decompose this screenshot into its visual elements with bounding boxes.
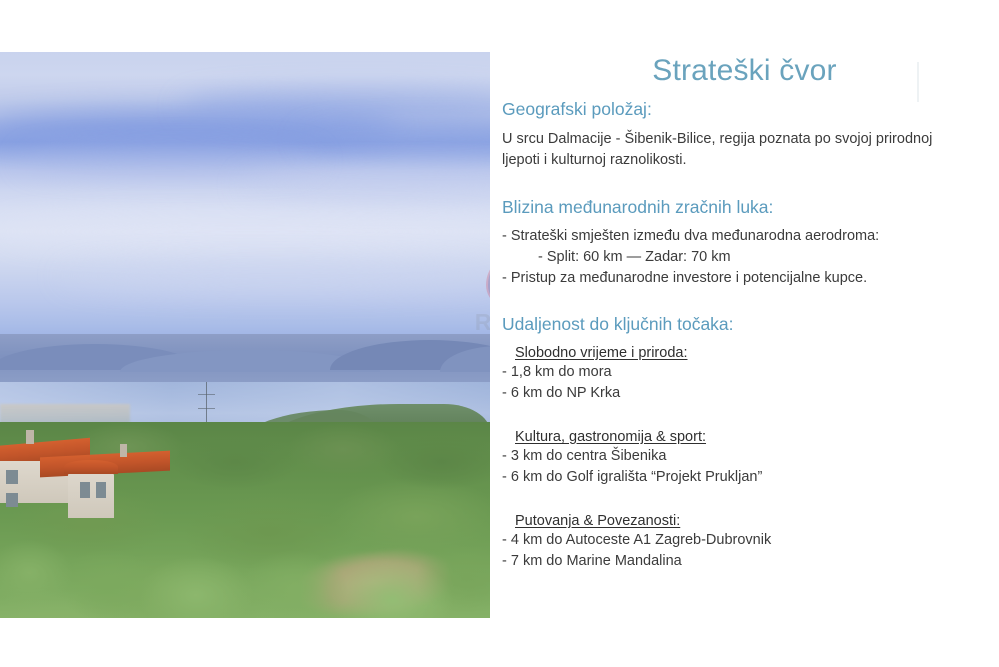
bullet-item: - Pristup za međunarodne investore i pot… [502, 268, 997, 289]
cloud-band [0, 217, 490, 247]
info-content: Geografski položaj: U srcu Dalmacije - Š… [502, 98, 997, 572]
sub-bullet-item: - Split: 60 km — Zadar: 70 km [538, 247, 997, 268]
house-chimney [120, 444, 127, 457]
cloud-band [60, 262, 490, 290]
group-subheading: Slobodno vrijeme i priroda: [515, 345, 687, 361]
list-item: - 7 km do Marine Mandalina [502, 551, 997, 572]
section-heading-geografski-polozaj: Geografski položaj: [502, 98, 997, 122]
section-paragraph: U srcu Dalmacije - Šibenik-Bilice, regij… [502, 129, 972, 172]
spacer [502, 122, 997, 129]
group-subheading: Kultura, gastronomija & sport: [515, 429, 706, 445]
sky-region [0, 52, 490, 342]
property-photo [0, 52, 490, 618]
list-item: - 3 km do centra Šibenika [502, 446, 997, 467]
house-chimney [26, 430, 34, 444]
bullet-item: - Strateški smješten između dva međunaro… [502, 226, 997, 247]
foreground-trees [0, 468, 490, 618]
cloud-band [300, 128, 490, 150]
info-panel: Strateški čvor Geografski položaj: U src… [490, 0, 999, 667]
spacer [502, 219, 997, 226]
cloud-band [20, 148, 320, 172]
spacer [502, 488, 997, 512]
list-item: - 1,8 km do mora [502, 362, 997, 383]
list-item: - 6 km do Golf igrališta “Projekt Pruklj… [502, 467, 997, 488]
section-heading-blizina-zracnih-luka: Blizina međunarodnih zračnih luka: [502, 196, 997, 220]
page-title: Strateški čvor [490, 54, 999, 88]
list-item: - 4 km do Autoceste A1 Zagreb-Dubrovnik [502, 530, 997, 551]
group-slobodno-vrijeme-priroda: Slobodno vrijeme i priroda: - 1,8 km do … [502, 337, 997, 404]
group-kultura-gastronomija-sport: Kultura, gastronomija & sport: - 3 km do… [502, 428, 997, 488]
group-putovanja-povezanosti: Putovanja & Povezanosti: - 4 km do Autoc… [502, 512, 997, 572]
spacer [502, 289, 997, 313]
spacer [502, 172, 997, 196]
section-heading-udaljenost-kljucnih-tocaka: Udaljenost do ključnih točaka: [502, 313, 997, 337]
list-item: - 6 km do NP Krka [502, 383, 997, 404]
group-subheading: Putovanja & Povezanosti: [515, 513, 680, 529]
title-decoration-mark [917, 62, 919, 102]
spacer [502, 404, 997, 428]
cloud-band [240, 172, 490, 198]
spacer [502, 337, 997, 344]
